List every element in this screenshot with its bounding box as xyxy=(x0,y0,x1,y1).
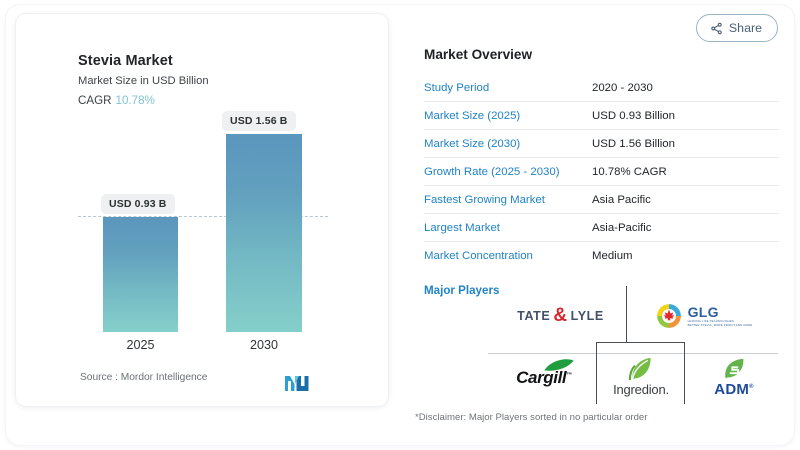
grid-divider-box-top xyxy=(596,342,685,343)
glg-tagline-2: BETTER STEVIA, MORE PROFIT AND MORE xyxy=(688,325,753,328)
table-row: Fastest Growing Market Asia Pacific xyxy=(424,186,779,214)
market-overview-panel: Market Overview Study Period 2020 - 2030… xyxy=(410,14,784,406)
row-value: Asia Pacific xyxy=(592,194,651,206)
row-value: Asia-Pacific xyxy=(592,222,652,234)
logo-tate-lyle: TATE & LYLE xyxy=(498,298,623,334)
bar-label-2030: USD 1.56 B xyxy=(222,111,296,131)
logo-adm: ADM® xyxy=(692,354,776,402)
disclaimer-text: *Disclaimer: Major Players sorted in no … xyxy=(415,412,647,423)
chart-card: Stevia Market Market Size in USD Billion… xyxy=(16,14,388,406)
row-value: USD 0.93 Billion xyxy=(592,110,675,122)
ampersand-icon: & xyxy=(553,305,567,327)
adm-leaf-icon xyxy=(722,358,746,380)
row-label: Largest Market xyxy=(424,222,592,234)
grid-divider-vertical-left xyxy=(596,342,597,404)
glg-lockup: GLG LEADING LIFE TECHNOLOGIES BETTER STE… xyxy=(655,302,753,330)
table-row: Market Size (2030) USD 1.56 Billion xyxy=(424,130,779,158)
cargill-wordmark: Cargill™ xyxy=(516,368,572,387)
cargill-tm: ™ xyxy=(566,372,572,378)
row-label: Study Period xyxy=(424,82,592,94)
ingredion-leaf-icon xyxy=(628,357,654,381)
cargill-lockup: Cargill™ xyxy=(516,368,572,388)
mordor-intelligence-logo xyxy=(284,373,310,398)
adm-registered-mark: ® xyxy=(749,384,754,390)
glg-swirl-icon xyxy=(655,302,683,330)
adm-wordmark: ADM® xyxy=(714,381,753,398)
table-row: Study Period 2020 - 2030 xyxy=(424,74,779,102)
ingredion-wordmark: Ingredion. xyxy=(613,382,669,397)
adm-lockup: ADM® xyxy=(714,358,753,398)
grid-divider-vertical-right xyxy=(684,342,685,404)
row-label: Growth Rate (2025 - 2030) xyxy=(424,166,592,178)
row-value: 10.78% CAGR xyxy=(592,166,667,178)
tate-lyle-wordmark: TATE & LYLE xyxy=(517,305,604,327)
logo-cargill: Cargill™ xyxy=(496,356,592,400)
row-label: Market Size (2030) xyxy=(424,138,592,150)
ingredion-lockup: Ingredion. xyxy=(613,357,669,397)
table-row: Growth Rate (2025 - 2030) 10.78% CAGR xyxy=(424,158,779,186)
major-players-logo-grid: TATE & LYLE xyxy=(488,286,778,404)
logo-glg: GLG LEADING LIFE TECHNOLOGIES BETTER STE… xyxy=(636,296,771,336)
bar-2030[interactable] xyxy=(226,134,302,332)
row-label: Market Concentration xyxy=(424,250,592,262)
row-value: 2020 - 2030 xyxy=(592,82,653,94)
table-row: Market Concentration Medium xyxy=(424,242,779,270)
row-label: Market Size (2025) xyxy=(424,110,592,122)
bar-chart-plot: USD 0.93 B USD 1.56 B 2025 2030 xyxy=(16,14,388,406)
bar-label-2025: USD 0.93 B xyxy=(101,194,175,214)
screenshot-root: Share Stevia Market Market Size in USD B… xyxy=(0,0,800,450)
row-value: Medium xyxy=(592,250,633,262)
tate-text: TATE xyxy=(517,309,550,323)
table-row: Market Size (2025) USD 0.93 Billion xyxy=(424,102,779,130)
grid-divider-vertical-top xyxy=(626,286,627,342)
lyle-text: LYLE xyxy=(571,309,604,323)
table-row: Largest Market Asia-Pacific xyxy=(424,214,779,242)
market-overview-title: Market Overview xyxy=(424,47,532,62)
glg-text-block: GLG LEADING LIFE TECHNOLOGIES BETTER STE… xyxy=(688,305,753,327)
row-label: Fastest Growing Market xyxy=(424,194,592,206)
market-overview-table: Study Period 2020 - 2030 Market Size (20… xyxy=(424,74,779,270)
x-axis-tick-2025: 2025 xyxy=(103,338,178,352)
x-axis-tick-2030: 2030 xyxy=(226,338,302,352)
bar-2025[interactable] xyxy=(103,217,178,332)
glg-wordmark: GLG xyxy=(688,305,753,319)
chart-source: Source : Mordor Intelligence xyxy=(80,372,207,383)
row-value: USD 1.56 Billion xyxy=(592,138,675,150)
logo-ingredion: Ingredion. xyxy=(598,350,684,404)
